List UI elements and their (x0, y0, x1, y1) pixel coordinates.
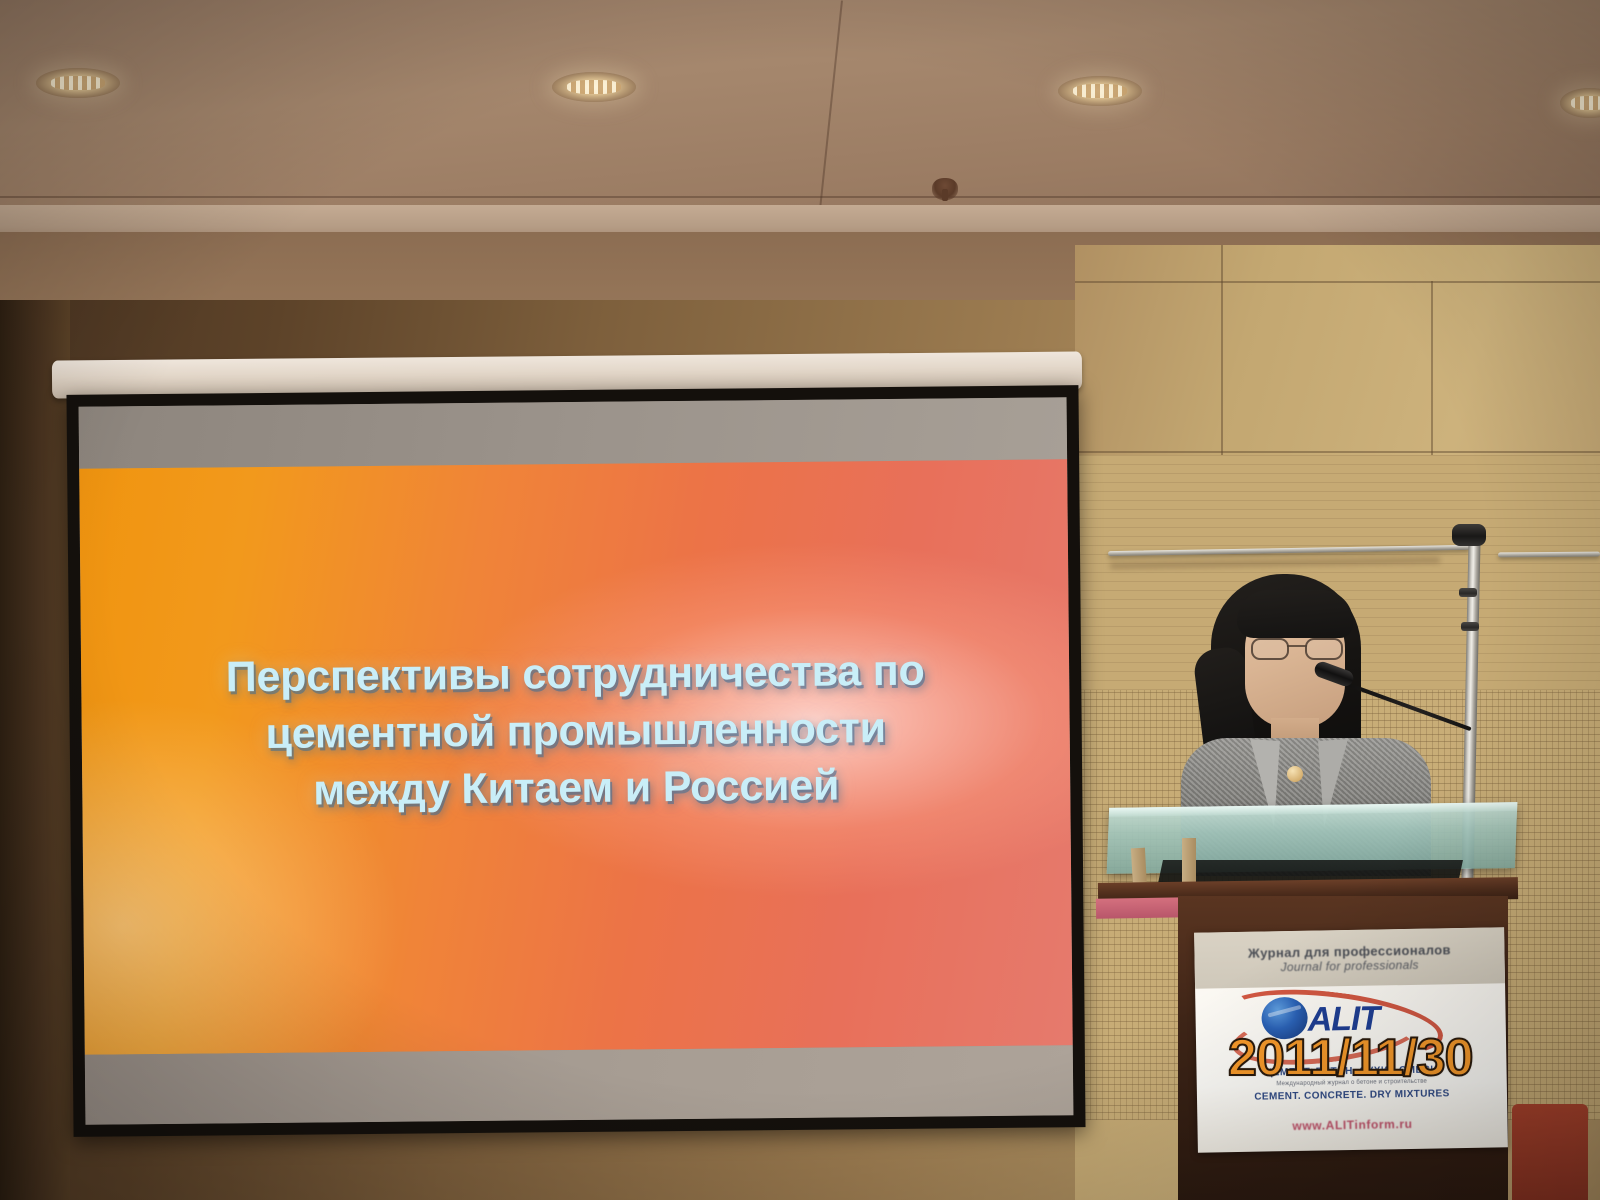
wall-panel-seam (1431, 281, 1433, 455)
ceiling-downlight-icon (552, 72, 636, 102)
left-wall-shadow (0, 300, 70, 1200)
sign-tagline-block: Журнал для профессионалов Journal for pr… (1194, 927, 1505, 988)
ceiling-seam (0, 196, 1600, 198)
wall-panel-seam (1075, 281, 1600, 283)
wall-panel-seam (1075, 451, 1600, 453)
ceiling-seam (819, 0, 843, 209)
eyeglasses-icon (1249, 638, 1345, 656)
camera-datestamp: 2011/11/30 (1228, 1028, 1473, 1088)
wall-rail (1498, 552, 1600, 558)
podium-accent-strip (1096, 897, 1188, 919)
chair-backrest (1512, 1104, 1588, 1200)
microphone-stand-collar (1459, 588, 1477, 597)
ceiling-downlight-icon (1058, 76, 1142, 106)
microphone-stand-cap (1452, 524, 1486, 546)
projection-screen: Перспективы сотрудничества по цементной … (66, 385, 1085, 1137)
screen-letterbox-top (79, 397, 1068, 468)
sign-tagline-en: Journal for professionals (1280, 957, 1418, 973)
conference-room-photo: Перспективы сотрудничества по цементной … (0, 0, 1600, 1200)
speaker-pendant (1287, 766, 1303, 782)
ceiling-downlight-icon (36, 68, 120, 98)
speaker-fringe (1237, 590, 1353, 638)
screen-surface: Перспективы сотрудничества по цементной … (79, 397, 1074, 1124)
sign-subtitle-en: CEMENT. CONCRETE. DRY MIXTURES (1197, 1087, 1507, 1103)
ceiling (0, 0, 1600, 232)
wall-panel-seam (1221, 245, 1223, 455)
ceiling-downlight-icon (1560, 88, 1600, 118)
microphone-stand-collar (1461, 622, 1479, 631)
podium-leg (1182, 838, 1196, 888)
screen-letterbox-bottom (85, 1045, 1074, 1124)
slide-title: Перспективы сотрудничества по цементной … (150, 642, 1001, 822)
sign-website-url: www.ALITinform.ru (1197, 1115, 1507, 1134)
sprinkler-head-icon (932, 178, 958, 200)
presentation-slide: Перспективы сотрудничества по цементной … (79, 459, 1073, 1054)
